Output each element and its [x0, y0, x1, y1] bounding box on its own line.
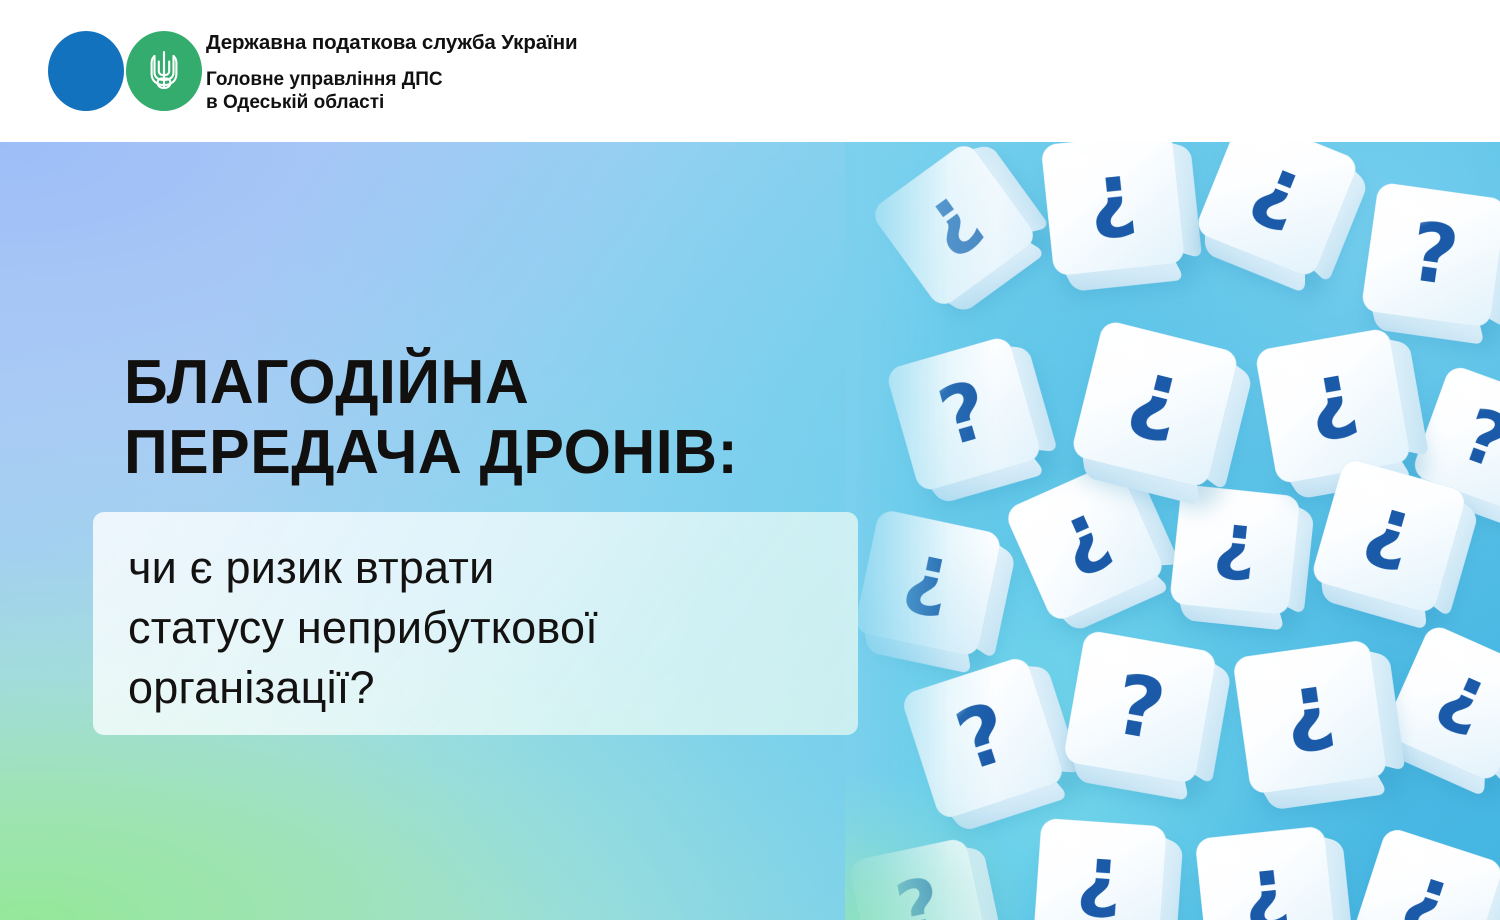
agency-name-block: Державна податкова служба України Головн…: [206, 30, 826, 114]
banner-title: БЛАГОДІЙНА ПЕРЕДАЧА ДРОНІВ:: [124, 348, 884, 488]
cube-2: ?: [1040, 142, 1185, 277]
question-mark-icon: ?: [1405, 212, 1463, 299]
cube-face: ?: [853, 508, 1002, 657]
agency-logo[interactable]: [48, 31, 200, 111]
title-line-1: БЛАГОДІЙНА: [124, 348, 869, 418]
cube-face: ?: [1040, 142, 1185, 277]
question-mark-dice-photo: ????????????????????: [845, 142, 1500, 920]
cube-7: ?: [1254, 327, 1412, 485]
question-mark-icon: ?: [1279, 671, 1340, 763]
question-mark-icon: ?: [898, 540, 958, 626]
cube-face: ?: [1232, 639, 1388, 795]
subtitle-line-1: чи є ризик втрати: [128, 538, 826, 598]
cube-15: ?: [1232, 639, 1388, 795]
cube-18: ?: [1195, 826, 1338, 920]
ukraine-trident-icon: [144, 47, 184, 95]
question-mark-icon: ?: [948, 692, 1019, 785]
question-mark-icon: ?: [1356, 492, 1422, 581]
question-mark-icon: ?: [1454, 397, 1500, 480]
blue-circle-icon: [48, 31, 124, 111]
site-header: Державна податкова служба України Головн…: [0, 0, 1500, 142]
cube-face: ?: [1361, 182, 1500, 329]
question-mark-icon: ?: [1049, 498, 1121, 587]
cube-4: ?: [1361, 182, 1500, 329]
cube-face: ?: [1254, 327, 1412, 485]
promo-poster: ???????????????????? БЛАГОДІЙНА ПЕРЕДАЧА…: [0, 0, 1500, 920]
cube-face: ?: [1033, 818, 1167, 920]
cube-face: ?: [1195, 826, 1338, 920]
agency-name: Державна податкова служба України: [206, 30, 826, 56]
title-line-2: ПЕРЕДАЧА ДРОНІВ:: [124, 418, 869, 488]
question-mark-icon: ?: [1241, 151, 1313, 241]
question-mark-icon: ?: [1426, 659, 1497, 746]
subtitle-line-2: статусу неприбуткової: [128, 598, 826, 658]
subtitle-line-3: організації?: [128, 658, 826, 718]
banner-subtitle-panel: чи є ризик втрати статусу неприбуткової …: [93, 512, 858, 735]
question-mark-icon: ?: [1302, 360, 1365, 451]
cube-17: ?: [1033, 818, 1167, 920]
question-mark-icon: ?: [1109, 662, 1171, 752]
question-mark-icon: ?: [1075, 845, 1126, 920]
question-mark-icon: ?: [931, 370, 997, 459]
question-mark-icon: ?: [1210, 511, 1260, 589]
agency-office-line-1: Головне управління ДПС: [206, 68, 826, 91]
cube-9: ?: [853, 508, 1002, 657]
question-mark-icon: ?: [1238, 854, 1293, 920]
cube-14: ?: [1062, 629, 1217, 784]
question-mark-icon: ?: [890, 867, 947, 920]
question-mark-icon: ?: [914, 181, 994, 268]
question-mark-icon: ?: [1394, 860, 1460, 920]
question-mark-icon: ?: [1120, 356, 1190, 453]
question-mark-icon: ?: [1085, 161, 1141, 248]
cube-face: ?: [1062, 629, 1217, 784]
agency-office-line-2: в Одеській області: [206, 91, 826, 114]
